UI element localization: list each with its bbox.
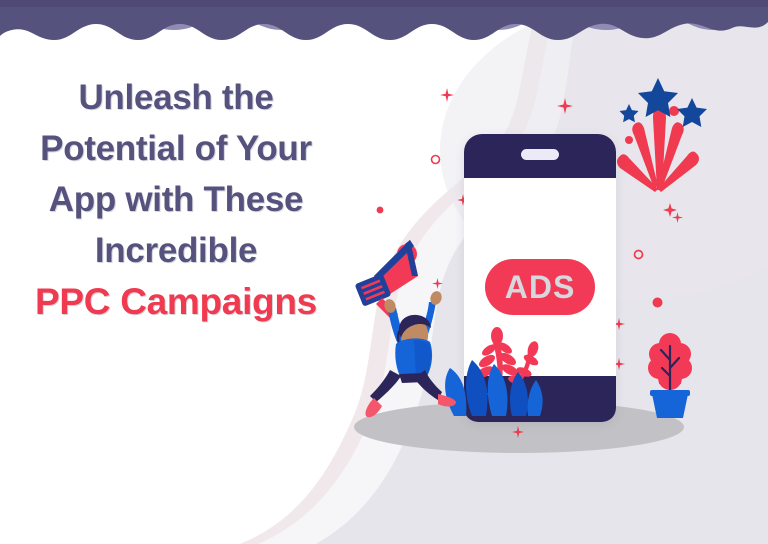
ads-badge: ADS <box>485 259 595 315</box>
headline-line-1: Unleash the <box>0 72 352 123</box>
ads-badge-label: ADS <box>505 271 576 303</box>
top-wave-band <box>0 0 768 56</box>
headline-block: Unleash the Potential of Your App with T… <box>0 72 352 327</box>
circle-outline-icon <box>430 154 441 165</box>
phone-speaker <box>521 149 559 160</box>
dot-icon <box>652 297 663 308</box>
dot-icon <box>376 206 384 214</box>
firework-burst-icon <box>608 78 744 228</box>
banner-canvas: ADS <box>0 0 768 544</box>
headline-line-2: Potential of Your <box>0 123 352 174</box>
phone-top-bezel <box>464 134 616 178</box>
sparkle-icon <box>512 426 524 438</box>
sparkle-icon <box>440 88 454 102</box>
potted-tree-icon <box>640 330 700 426</box>
person-with-megaphone <box>352 232 464 428</box>
headline-line-5-emphasis: PPC Campaigns <box>0 276 352 327</box>
sparkle-icon <box>557 98 573 114</box>
headline-line-3: App with These <box>0 174 352 225</box>
circle-outline-icon <box>633 249 644 260</box>
headline-line-4: Incredible <box>0 225 352 276</box>
